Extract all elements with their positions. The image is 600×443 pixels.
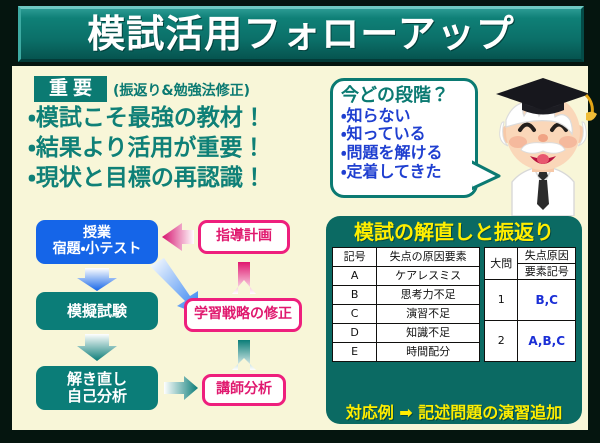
important-badge: 重要 xyxy=(34,76,107,102)
table-row: D 知識不足 xyxy=(333,324,480,343)
review-panel: 模試の解直しと振返り 記号 失点の原因要素 A ケアレスミス B 思考力不足 xyxy=(326,216,582,424)
review-tables: 記号 失点の原因要素 A ケアレスミス B 思考力不足 C 演習不足 xyxy=(326,247,582,362)
flow-box-self-review-line1: 解き直し xyxy=(67,371,127,388)
flow-box-mock-exam-label: 模擬試験 xyxy=(67,303,127,320)
page-title: 模試活用フォローアップ xyxy=(87,15,514,53)
content-panel: 重要 (振返り&勉強法修正) ・模試こそ最強の教材！ ・結果より活用が重要！ ・… xyxy=(12,66,588,430)
cause-row-2-factor: 思考力不足 xyxy=(377,286,480,305)
stage-item-4: ・定着してきた xyxy=(341,163,475,182)
cause-table-header-symbol: 記号 xyxy=(333,248,377,267)
flow-box-self-review: 解き直し 自己分析 xyxy=(36,366,158,410)
cause-row-5-factor: 時間配分 xyxy=(377,343,480,362)
page-title-banner: 模試活用フォローアップ xyxy=(18,6,584,62)
cause-row-5-symbol: E xyxy=(333,343,377,362)
key-points-card: 重要 (振返り&勉強法修正) ・模試こそ最強の教材！ ・結果より活用が重要！ ・… xyxy=(24,72,324,214)
cause-table: 記号 失点の原因要素 A ケアレスミス B 思考力不足 C 演習不足 xyxy=(332,247,480,362)
important-badge-note: (振返り&勉強法修正) xyxy=(113,80,250,102)
professor-illustration xyxy=(482,64,600,216)
table-row: E 時間配分 xyxy=(333,343,480,362)
key-point-2: ・結果より活用が重要！ xyxy=(28,134,324,164)
flow-box-strategy-fix-label: 学習戦略の修正 xyxy=(194,307,292,323)
key-point-1: ・模試こそ最強の教材！ xyxy=(28,104,324,134)
action-example-bar: 対応例 ➡ 記述問題の演習追加 xyxy=(326,403,582,422)
cause-row-3-factor: 演習不足 xyxy=(377,305,480,324)
flow-box-mock-exam: 模擬試験 xyxy=(36,292,158,330)
flow-box-instructor-analysis: 講師分析 xyxy=(202,374,286,406)
study-cycle-flowchart: 授業 宿題・小テスト 模擬試験 解き直し 自己分析 指導計画 学習戦略の修正 講… xyxy=(22,218,308,424)
stage-item-2: ・知っている xyxy=(341,125,475,144)
flow-box-instructor-analysis-label: 講師分析 xyxy=(216,382,272,398)
cause-row-1-symbol: A xyxy=(333,267,377,286)
cause-table-header-factor: 失点の原因要素 xyxy=(377,248,480,267)
question-row-2-number: 2 xyxy=(485,321,518,362)
table-row: A ケアレスミス xyxy=(333,267,480,286)
cause-row-4-factor: 知識不足 xyxy=(377,324,480,343)
stage-item-3: ・問題を解ける xyxy=(341,144,475,163)
flow-box-lesson: 授業 宿題・小テスト xyxy=(36,220,158,264)
key-points-badge-row: 重要 (振返り&勉強法修正) xyxy=(34,76,324,102)
infographic-root: 模試活用フォローアップ 重要 (振返り&勉強法修正) ・模試こそ最強の教材！ ・… xyxy=(0,0,600,443)
cause-row-4-symbol: D xyxy=(333,324,377,343)
flow-box-lesson-line1: 授業 xyxy=(83,226,111,242)
key-point-3: ・現状と目標の再認識！ xyxy=(28,164,324,194)
flow-box-teaching-plan: 指導計画 xyxy=(198,220,290,254)
flow-box-strategy-fix: 学習戦略の修正 xyxy=(184,298,302,332)
cause-row-2-symbol: B xyxy=(333,286,377,305)
cause-row-1-factor: ケアレスミス xyxy=(377,267,480,286)
question-table: 大問 失点原因 要素記号 1 B,C 2 A,B,C xyxy=(484,247,576,362)
question-table-header-question: 大問 xyxy=(485,248,518,280)
speech-bubble-title: 今どの段階？ xyxy=(341,85,475,107)
flow-box-lesson-line2: 宿題・小テスト xyxy=(53,242,142,258)
review-panel-title: 模試の解直しと振返り xyxy=(326,221,582,244)
question-table-header-cause-line1: 失点原因 xyxy=(518,248,576,264)
question-row-1-number: 1 xyxy=(485,280,518,321)
table-row: 2 A,B,C xyxy=(485,321,576,362)
question-row-2-codes: A,B,C xyxy=(518,321,576,362)
cause-row-3-symbol: C xyxy=(333,305,377,324)
table-header-row: 記号 失点の原因要素 xyxy=(333,248,480,267)
table-row: B 思考力不足 xyxy=(333,286,480,305)
flow-box-teaching-plan-label: 指導計画 xyxy=(216,229,272,245)
table-row: C 演習不足 xyxy=(333,305,480,324)
speech-bubble: 今どの段階？ ・知らない ・知っている ・問題を解ける ・定着してきた xyxy=(330,78,478,198)
table-header-row: 大問 失点原因 xyxy=(485,248,576,264)
flow-box-self-review-line2: 自己分析 xyxy=(67,388,127,405)
stage-item-1: ・知らない xyxy=(341,107,475,126)
question-table-header-cause-line2: 要素記号 xyxy=(518,264,576,280)
question-row-1-codes: B,C xyxy=(518,280,576,321)
table-row: 1 B,C xyxy=(485,280,576,321)
